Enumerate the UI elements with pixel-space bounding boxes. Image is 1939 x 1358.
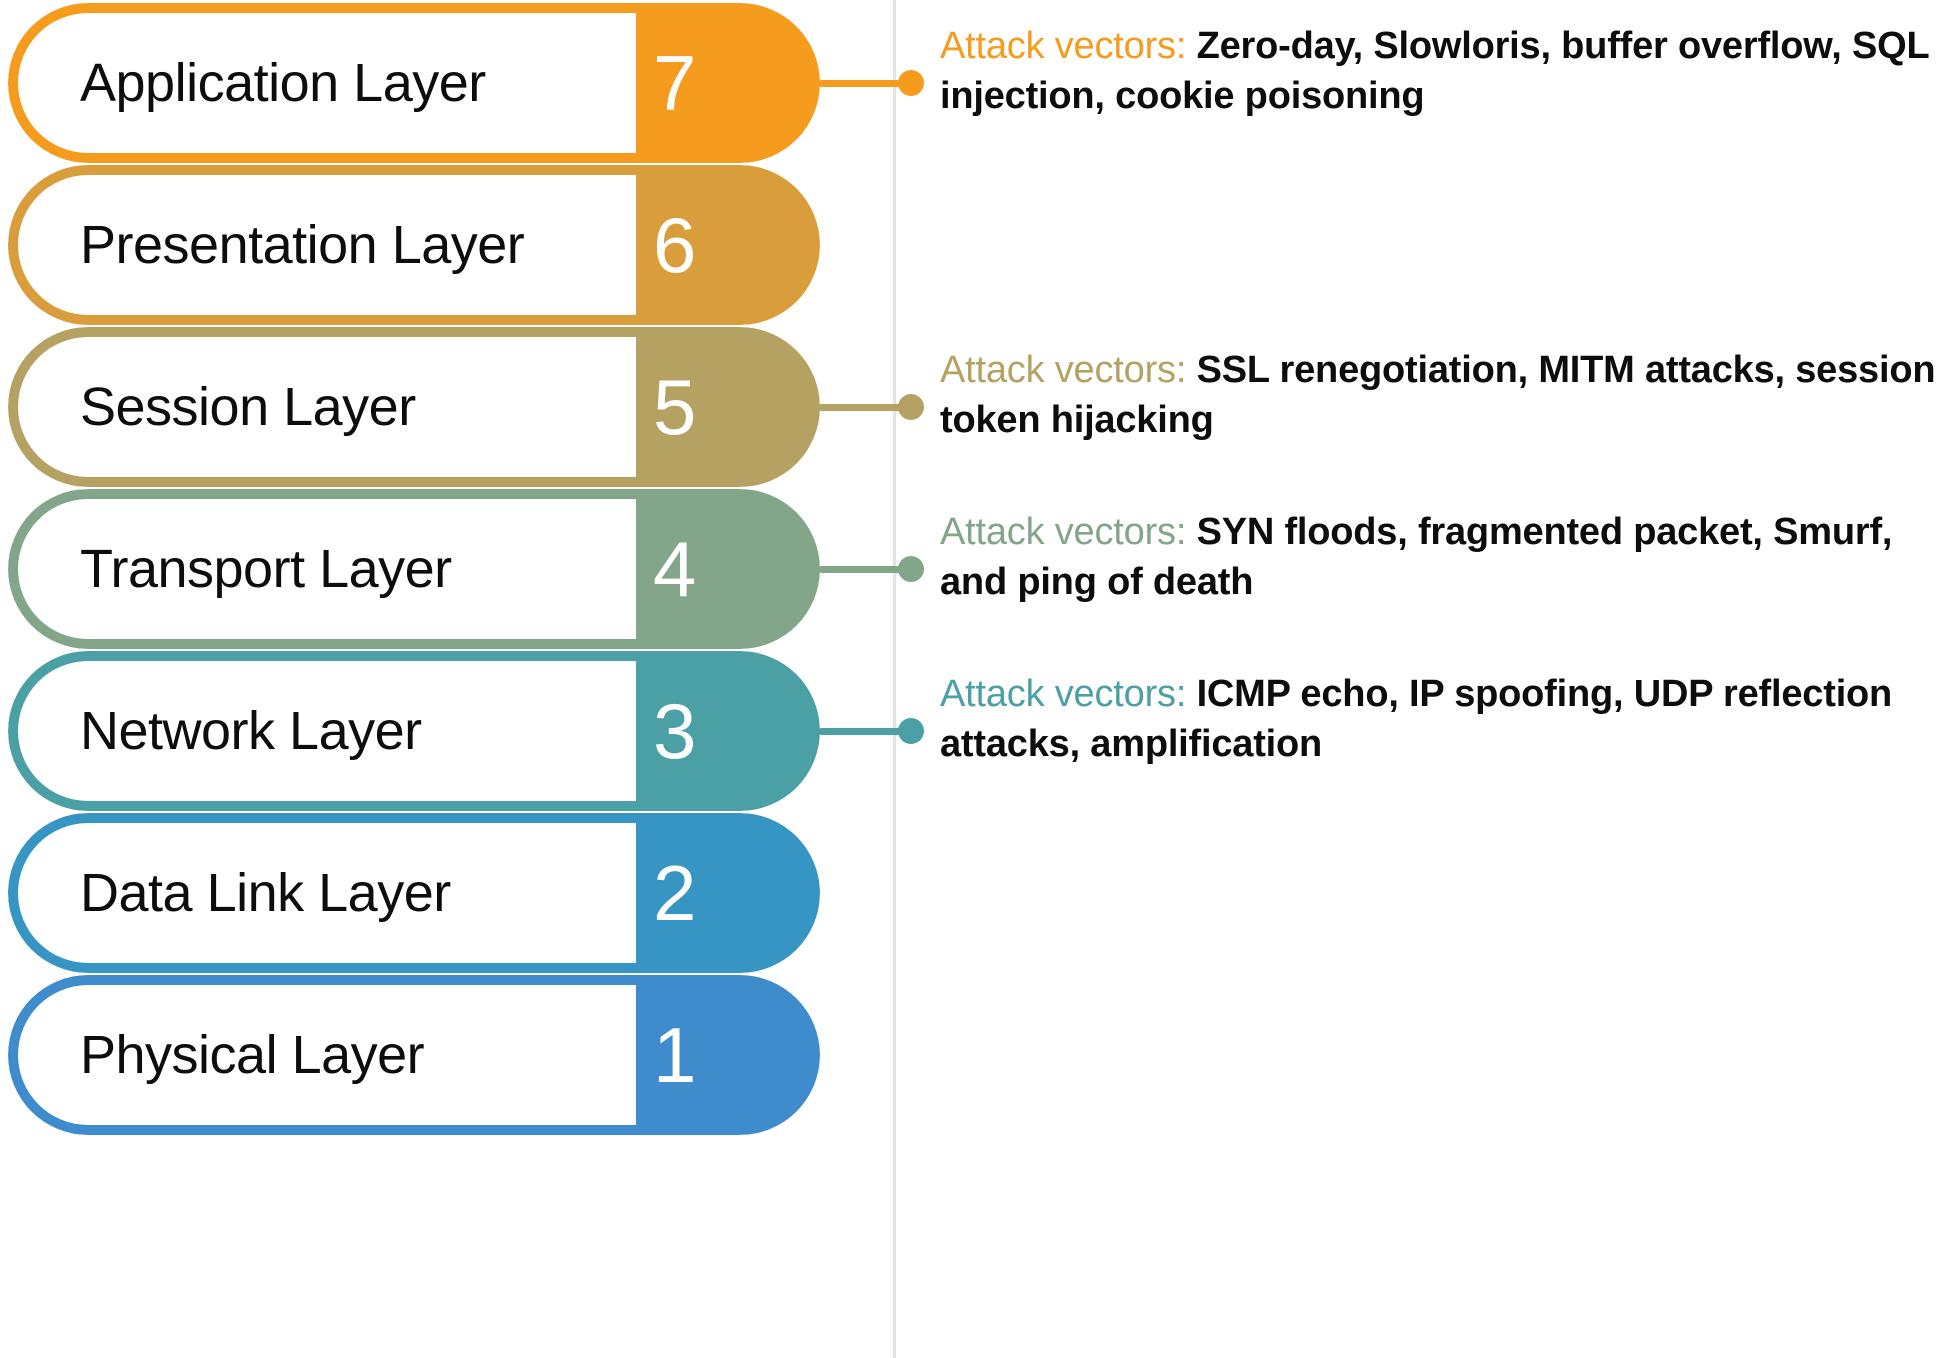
connector-line — [818, 566, 908, 573]
layer-pill-1[interactable]: Physical Layer1 — [8, 975, 820, 1135]
layer-row[interactable]: Data Link Layer2 — [0, 813, 1939, 973]
layer-pill-4[interactable]: Transport Layer4 — [8, 489, 820, 649]
layer-row[interactable]: Application Layer7Attack vectors: Zero-d… — [0, 3, 1939, 163]
layer-number: 1 — [653, 975, 773, 1135]
attack-vectors-annotation: Attack vectors: SSL renegotiation, MITM … — [940, 345, 1939, 445]
connector — [818, 403, 926, 411]
connector-line — [818, 404, 908, 411]
connector-dot — [898, 70, 924, 96]
layer-pill-7[interactable]: Application Layer7 — [8, 3, 820, 163]
layer-row[interactable]: Session Layer5Attack vectors: SSL renego… — [0, 327, 1939, 487]
layer-row[interactable]: Network Layer3Attack vectors: ICMP echo,… — [0, 651, 1939, 811]
connector — [818, 727, 926, 735]
layer-name: Transport Layer — [80, 489, 452, 649]
layer-number: 3 — [653, 651, 773, 811]
osi-layers-diagram: Application Layer7Attack vectors: Zero-d… — [0, 0, 1939, 1358]
layer-number: 7 — [653, 3, 773, 163]
layer-row[interactable]: Transport Layer4Attack vectors: SYN floo… — [0, 489, 1939, 649]
annotation-lead-label: Attack vectors: — [940, 511, 1186, 553]
annotation-lead-label: Attack vectors: — [940, 25, 1186, 67]
layer-number: 2 — [653, 813, 773, 973]
attack-vectors-annotation: Attack vectors: ICMP echo, IP spoofing, … — [940, 669, 1939, 769]
layer-name: Physical Layer — [80, 975, 424, 1135]
layer-number: 4 — [653, 489, 773, 649]
attack-vectors-annotation: Attack vectors: SYN floods, fragmented p… — [940, 507, 1939, 607]
layer-number: 6 — [653, 165, 773, 325]
layer-row[interactable]: Presentation Layer6 — [0, 165, 1939, 325]
layer-pill-3[interactable]: Network Layer3 — [8, 651, 820, 811]
connector-line — [818, 728, 908, 735]
layer-pill-2[interactable]: Data Link Layer2 — [8, 813, 820, 973]
layer-name: Session Layer — [80, 327, 416, 487]
annotation-lead-label: Attack vectors: — [940, 349, 1186, 391]
layer-name: Application Layer — [80, 3, 486, 163]
annotation-lead-label: Attack vectors: — [940, 673, 1186, 715]
connector — [818, 79, 926, 87]
layer-name: Presentation Layer — [80, 165, 524, 325]
layer-pill-6[interactable]: Presentation Layer6 — [8, 165, 820, 325]
layer-row[interactable]: Physical Layer1 — [0, 975, 1939, 1135]
attack-vectors-annotation: Attack vectors: Zero-day, Slowloris, buf… — [940, 21, 1939, 121]
connector — [818, 565, 926, 573]
connector-dot — [898, 394, 924, 420]
connector-dot — [898, 556, 924, 582]
connector-line — [818, 80, 908, 87]
layer-pill-5[interactable]: Session Layer5 — [8, 327, 820, 487]
layer-name: Network Layer — [80, 651, 422, 811]
layer-name: Data Link Layer — [80, 813, 451, 973]
connector-dot — [898, 718, 924, 744]
layer-number: 5 — [653, 327, 773, 487]
